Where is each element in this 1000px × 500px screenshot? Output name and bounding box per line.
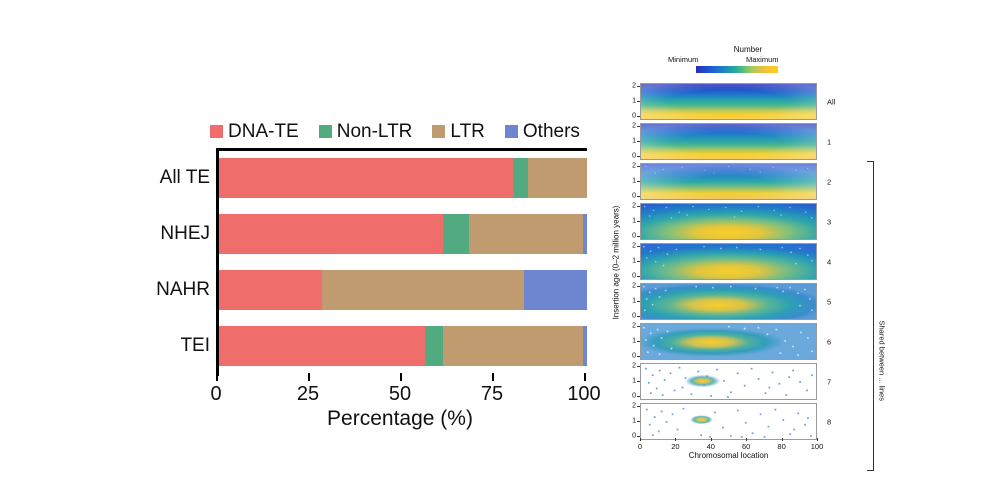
y-tick-label-2: 2	[622, 323, 636, 330]
heatmap-image-5	[640, 283, 817, 320]
heatmap-x-tick-label-80: 80	[777, 442, 785, 451]
heatmap-x-axis-label: Chromosomal location	[640, 451, 817, 460]
legend-swatch-others	[505, 125, 518, 138]
heatmap-x-tick-20	[675, 438, 676, 441]
bar-segment-dna-te	[219, 270, 322, 310]
legend-label-others: Others	[523, 122, 580, 141]
heatmap-x-tick-label-0: 0	[638, 442, 642, 451]
colorbar-min-label: Minimum	[668, 55, 698, 64]
legend-swatch-dna-te	[210, 125, 223, 138]
heatmap-image-3	[640, 203, 817, 240]
y-tick-label-2: 2	[622, 163, 636, 170]
y-tick-label-2: 2	[622, 363, 636, 370]
legend-label-ltr: LTR	[450, 122, 484, 141]
bar-segment-non-ltr	[513, 158, 528, 198]
bar-segment-others	[524, 270, 587, 310]
bar-segment-non-ltr	[443, 214, 469, 254]
bar-x-axis: 0 25 50 75 100	[216, 373, 584, 383]
legend-item-ltr: LTR	[432, 122, 484, 141]
y-tick-label-0: 0	[622, 313, 636, 320]
y-tick-label-2: 2	[622, 243, 636, 250]
bar-row-all-te: All TE	[219, 158, 587, 198]
heatmap-x-axis: 0 20 40 60 80 100	[640, 438, 817, 447]
heatmap-row-7: 2 1 0	[622, 363, 890, 400]
y-tick-label-1: 1	[622, 218, 636, 225]
bar-segment-ltr	[469, 214, 583, 254]
heatmap-row-label-8: 8	[827, 417, 831, 426]
x-tick-75	[492, 373, 494, 381]
bar-chart-legend: DNA-TE Non-LTR LTR Others	[210, 118, 600, 144]
shared-between-lines-label: Shared between ... lines	[878, 321, 887, 401]
legend-label-dna-te: DNA-TE	[228, 122, 299, 141]
y-tick-label-0: 0	[622, 393, 636, 400]
heatmap-x-tick-label-100: 100	[811, 442, 824, 451]
x-tick-label-0: 0	[210, 383, 221, 406]
colorbar-max-label: Maximum	[746, 55, 779, 64]
heatmap-row-label-4: 4	[827, 257, 831, 266]
heatmap-x-tick-40	[711, 438, 712, 441]
y-tick-label-1: 1	[622, 378, 636, 385]
heatmap-row-4: 2 1 0	[622, 243, 890, 280]
bar-category-label-tei: TEI	[180, 335, 210, 357]
x-tick-label-100: 100	[567, 383, 600, 406]
heatmap-x-tick-60	[746, 438, 747, 441]
bar-category-label-nahr: NAHR	[156, 279, 210, 301]
bar-category-label-all-te: All TE	[160, 167, 210, 189]
heatmap-row-all: 2 1 0	[622, 83, 890, 120]
bar-segment-ltr	[443, 326, 583, 366]
y-tick-label-2: 2	[622, 283, 636, 290]
heatmap-row-label-3: 3	[827, 217, 831, 226]
y-tick-label-2: 2	[622, 123, 636, 130]
heatmap-row-3: 2 1 0	[622, 203, 890, 240]
bar-row-nhej: NHEJ	[219, 214, 587, 254]
bar-segment-non-ltr	[425, 326, 443, 366]
heatmap-image-4	[640, 243, 817, 280]
heatmap-row-1: 2 1 0	[622, 123, 890, 160]
bar-segment-others	[583, 214, 587, 254]
heatmap-x-tick-100	[817, 438, 818, 441]
heatmap-image-1	[640, 123, 817, 160]
bar-x-axis-label: Percentage (%)	[216, 407, 584, 431]
legend-swatch-ltr	[432, 125, 445, 138]
heatmap-x-tick-label-40: 40	[707, 442, 715, 451]
heatmap-y-axis-label: Insertion age (0–2 million years)	[612, 206, 621, 320]
x-tick-50	[400, 373, 402, 381]
x-tick-label-75: 75	[481, 383, 503, 406]
heatmap-row-label-2: 2	[827, 177, 831, 186]
colorbar-title: Number	[668, 45, 828, 54]
heatmap-x-tick-80	[782, 438, 783, 441]
bar-segment-ltr	[528, 158, 587, 198]
x-tick-label-50: 50	[389, 383, 411, 406]
colorbar: Number Minimum Maximum	[668, 45, 828, 79]
heatmap-image-8	[640, 403, 817, 440]
legend-swatch-non-ltr	[319, 125, 332, 138]
y-tick-label-0: 0	[622, 273, 636, 280]
legend-item-non-ltr: Non-LTR	[319, 122, 413, 141]
bar-row-nahr: NAHR	[219, 270, 587, 310]
bar-segment-others	[583, 326, 587, 366]
heatmap-row-5: 2 1 0	[622, 283, 890, 320]
heatmap-image-6	[640, 323, 817, 360]
legend-item-others: Others	[505, 122, 580, 141]
heatmap-image-all	[640, 83, 817, 120]
heatmap-panel-stack: Insertion age (0–2 million years) 2 1 0	[622, 83, 890, 438]
y-tick-label-1: 1	[622, 178, 636, 185]
heatmap-row-label-6: 6	[827, 337, 831, 346]
x-tick-100	[584, 373, 586, 381]
y-tick-label-1: 1	[622, 338, 636, 345]
bar-segment-dna-te	[219, 214, 443, 254]
x-tick-label-25: 25	[297, 383, 319, 406]
heatmap-row-2: 2 1 0	[622, 163, 890, 200]
heatmap-row-6: 2 1 0	[622, 323, 890, 360]
y-tick-label-1: 1	[622, 298, 636, 305]
x-tick-0	[216, 373, 218, 381]
heatmap-x-tick-label-20: 20	[671, 442, 679, 451]
colorbar-gradient	[696, 66, 778, 73]
shared-between-lines-bracket	[867, 161, 874, 471]
y-tick-label-1: 1	[622, 258, 636, 265]
bar-category-label-nhej: NHEJ	[160, 223, 210, 245]
x-tick-25	[308, 373, 310, 381]
y-tick-label-1: 1	[622, 418, 636, 425]
bar-segment-ltr	[322, 270, 524, 310]
bar-segment-dna-te	[219, 158, 513, 198]
y-tick-label-2: 2	[622, 203, 636, 210]
heatmap-row-label-all: All	[827, 97, 835, 106]
legend-item-dna-te: DNA-TE	[210, 122, 299, 141]
y-tick-label-1: 1	[622, 138, 636, 145]
legend-label-non-ltr: Non-LTR	[337, 122, 413, 141]
heatmap-x-tick-label-60: 60	[742, 442, 750, 451]
bar-row-tei: TEI	[219, 326, 587, 366]
bar-plot-area: All TE NHEJ NAHR TEI	[216, 148, 587, 376]
y-tick-label-0: 0	[622, 113, 636, 120]
heatmap-x-tick-0	[640, 438, 641, 441]
y-tick-label-2: 2	[622, 403, 636, 410]
y-tick-label-2: 2	[622, 83, 636, 90]
heatmap-row-8: 2 1 0	[622, 403, 890, 440]
y-tick-label-0: 0	[622, 233, 636, 240]
heatmap-row-label-1: 1	[827, 137, 831, 146]
y-tick-label-0: 0	[622, 433, 636, 440]
y-tick-label-1: 1	[622, 98, 636, 105]
bar-segment-dna-te	[219, 326, 425, 366]
y-tick-label-0: 0	[622, 353, 636, 360]
y-tick-label-0: 0	[622, 193, 636, 200]
stacked-bar-chart: DNA-TE Non-LTR LTR Others All TE NHEJ	[140, 118, 600, 408]
heatmap-figure: Number Minimum Maximum Insertion age (0–…	[600, 45, 890, 455]
y-tick-label-0: 0	[622, 153, 636, 160]
heatmap-row-label-7: 7	[827, 377, 831, 386]
heatmap-image-2	[640, 163, 817, 200]
heatmap-row-label-5: 5	[827, 297, 831, 306]
heatmap-image-7	[640, 363, 817, 400]
